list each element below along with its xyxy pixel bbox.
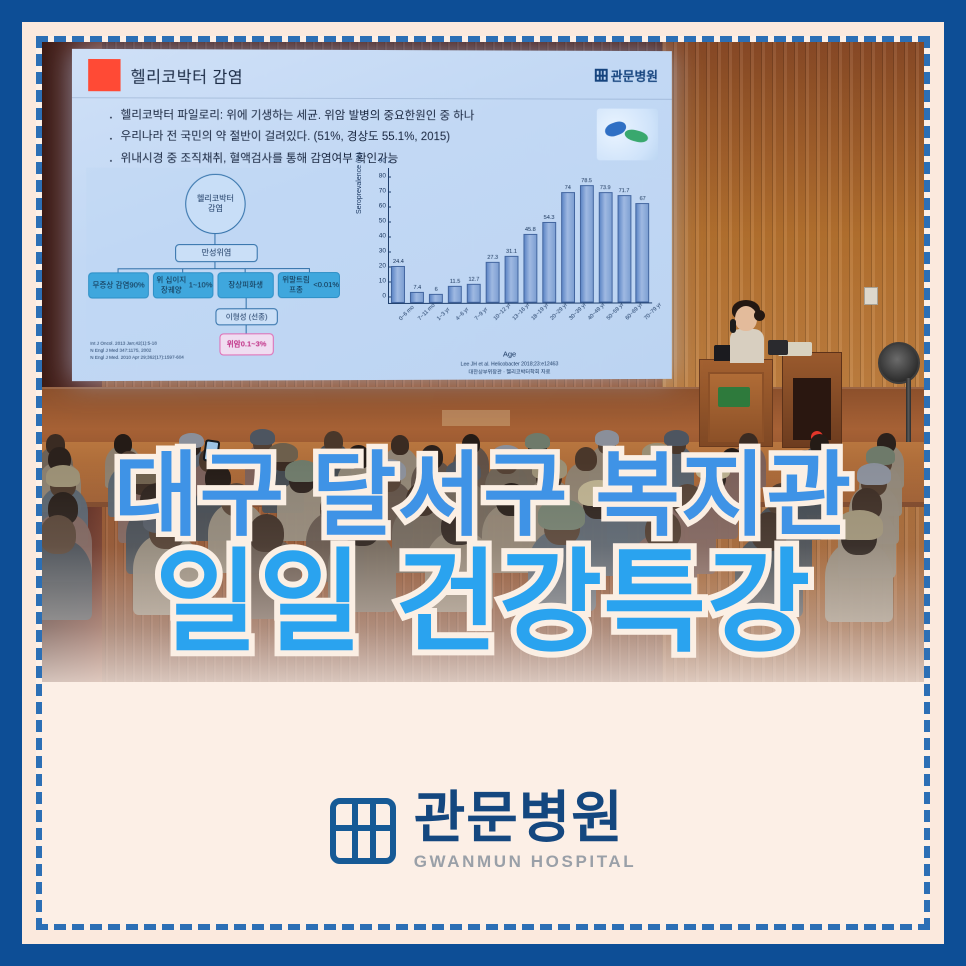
dashed-frame: 헬리코박터 감염 관문병원 헬리코박터 파일로리: 위에 기생하는 세균. 위암… [36,36,930,930]
chart-x-axis-label: Age [358,349,660,359]
chart-bar-group: 12.7 [467,168,481,303]
wall-outlet [864,287,878,305]
chart-bar-group: 78.5 [580,168,594,302]
chart-bar-value: 74 [565,185,571,191]
audience-member-hat [250,429,275,445]
headline-line-1: 대구 달서구 복지관 [42,452,924,541]
chart-bar [429,294,443,303]
flow-cancer-value: 0.1~3% [241,339,267,349]
flow-connector [246,298,247,308]
flow-diagram: 헬리코박터감염 만성위염 무증상 감염 90% 위 십이지장궤양 [86,168,350,365]
chart-bar [391,266,405,303]
chart-y-tick: 60 [379,203,386,210]
flow-outcome-label: 위 십이지장궤양 [154,276,189,296]
chart-bar-value: 45.8 [525,227,536,233]
slide-title: 헬리코박터 감염 [131,63,243,87]
chart-bar [580,185,594,302]
side-cabinet-shelf [793,378,831,440]
wall-panel-plate [442,410,510,426]
flow-gastric-cancer: 위암 0.1~3% [219,333,273,355]
chart-bar [636,203,650,303]
chart-y-tick: 70 [379,188,386,195]
chart-bar-value: 6 [435,287,438,293]
chart-bar-group: 31.1 [505,168,519,303]
chart-y-tick: 80 [379,173,386,180]
flow-outcome: 위 십이지장궤양 1~10% [153,272,214,298]
chart-plot-area: 0102030405060708090 24.47.4611.512.727.3… [388,168,652,304]
flow-outcome: 장상피화생 [217,272,273,298]
chart-bar [617,196,631,303]
chart-bar-group: 67 [636,168,650,302]
chart-y-tick: 90 [379,158,386,165]
chart-bar [542,222,556,303]
table-box [768,340,788,355]
slide-accent-block [88,59,120,91]
audience-member-hat [664,430,689,446]
chart-bar [505,256,519,303]
chart-bar [598,192,612,302]
flow-references: Int J Oncol. 2013 Jan;42(1):5-18 N Engl … [90,339,184,361]
flow-connector [214,234,215,244]
electric-fan-icon [878,342,920,384]
brand-name-ko: 관문병원 [414,790,637,846]
chart-bar-group: 54.3 [542,168,556,302]
chart-y-tick: 10 [379,277,386,284]
chart-bar-group: 71.7 [617,168,631,302]
chart-bar-value: 27.3 [487,255,498,261]
flow-outcome-label: 위말트림프종 [279,275,313,295]
chart-y-tick: 30 [379,247,386,254]
slide-divider [72,97,672,100]
chart-bar-group: 45.8 [523,168,537,303]
chart-bar-group: 74 [561,168,575,302]
chart-bars: 24.47.4611.512.727.331.145.854.37478.573… [389,168,652,303]
chart-bar-group: 73.9 [598,168,612,302]
microphone-icon [730,319,736,333]
grid-logo-icon [595,69,608,82]
chart-bar-value: 54.3 [544,215,555,221]
flow-outcome-label: 장상피화생 [228,280,263,290]
fan-pole [906,378,911,442]
projected-slide: 헬리코박터 감염 관문병원 헬리코박터 파일로리: 위에 기생하는 세균. 위암… [72,49,672,381]
chart-bar [486,262,500,303]
seroprevalence-bar-chart: Seroprevalence (%) 0102030405060708090 2… [358,162,660,374]
flow-outcome-value: <0.01% [313,280,339,290]
chart-bar-value: 11.5 [450,279,460,285]
chart-bar-group: 27.3 [486,168,500,303]
chart-bar-value: 71.7 [619,189,630,195]
headline-line-2: 일일 건강특강 [42,549,924,658]
chart-y-tick: 0 [382,292,386,299]
slide-hospital-logo: 관문병원 [595,66,658,85]
flow-connector [118,268,309,269]
flow-cancer-label: 위암 [227,340,241,350]
flow-dysplasia: 이형성 (선종) [215,308,277,325]
chart-y-tick: 50 [379,217,386,224]
chart-bar [561,192,575,303]
chart-y-axis-label: Seroprevalence (%) [356,152,363,214]
chart-bar-value: 7.4 [413,285,421,291]
flow-outcome-value: 90% [129,280,144,290]
brand-text: 관문병원 GWANMUN HOSPITAL [414,790,637,872]
flow-outcome: 위말트림프종 <0.01% [278,272,340,298]
poster-canvas: 헬리코박터 감염 관문병원 헬리코박터 파일로리: 위에 기생하는 세균. 위암… [0,0,966,966]
slide-bullet: 우리나라 전 국민의 약 절반이 걸려있다. (51%, 경상도 55.1%, … [108,127,553,149]
chart-bar-value: 73.9 [600,185,611,191]
podium-badge [718,387,750,407]
chart-bar-group: 6 [429,168,443,303]
speaker-hair-bun [754,310,765,321]
chart-bar-value: 31.1 [506,249,517,255]
chart-y-tick: 40 [379,232,386,239]
flow-outcome-value: 1~10% [189,280,213,290]
chart-bar-value: 24.4 [393,259,404,265]
flow-root-node: 헬리코박터감염 [185,174,245,234]
chart-bar-group: 7.4 [410,168,424,303]
slide-bullet: 헬리코박터 파일로리: 위에 기생하는 세균. 위암 발병의 중요한원인 중 하… [108,105,553,127]
chart-bar [448,286,462,303]
speaker-head [735,306,757,331]
helicobacter-illustration [597,109,658,161]
audience-member-hat [595,430,620,446]
flow-outcome-label: 무증상 감염 [92,280,129,290]
speaker-body [730,329,764,363]
chart-bar-value: 78.5 [581,178,592,184]
chart-bar-value: 67 [640,196,646,202]
slide-bullet-list: 헬리코박터 파일로리: 위에 기생하는 세균. 위암 발병의 중요한원인 중 하… [108,105,553,170]
chart-bar [410,292,424,303]
chart-x-ticks: 0~6 mo7~11 mo1~3 yr4~6 yr7~9 yr10~12 yr1… [388,307,652,354]
chart-bar-group: 11.5 [448,168,462,303]
flow-reference: N Engl J Med. 2010 Apr 29;362(17):1597-6… [90,354,184,361]
brand-lockup: 관문병원 GWANMUN HOSPITAL [42,790,924,872]
chart-source-line: 대한상부위장관 · 헬리코박터학회 자료 [358,369,660,378]
slide-logo-text: 관문병원 [611,66,658,85]
chart-bar-value: 12.7 [468,277,479,283]
flow-chronic-gastritis: 만성위염 [175,244,258,262]
brand-name-en: GWANMUN HOSPITAL [414,852,637,872]
flow-connector [246,325,247,333]
podium-panel [708,372,764,442]
grid-logo-icon [330,798,396,864]
chart-bar [523,234,537,302]
chart-y-tick: 20 [379,262,386,269]
chart-bar-group: 24.4 [391,168,405,303]
headline: 대구 달서구 복지관 일일 건강특강 [42,452,924,658]
chart-source: Lee JH et al. Helicobacter 2018;23:e1246… [358,361,660,378]
flow-outcome: 무증상 감염 90% [88,272,149,298]
chart-bar [467,284,481,303]
